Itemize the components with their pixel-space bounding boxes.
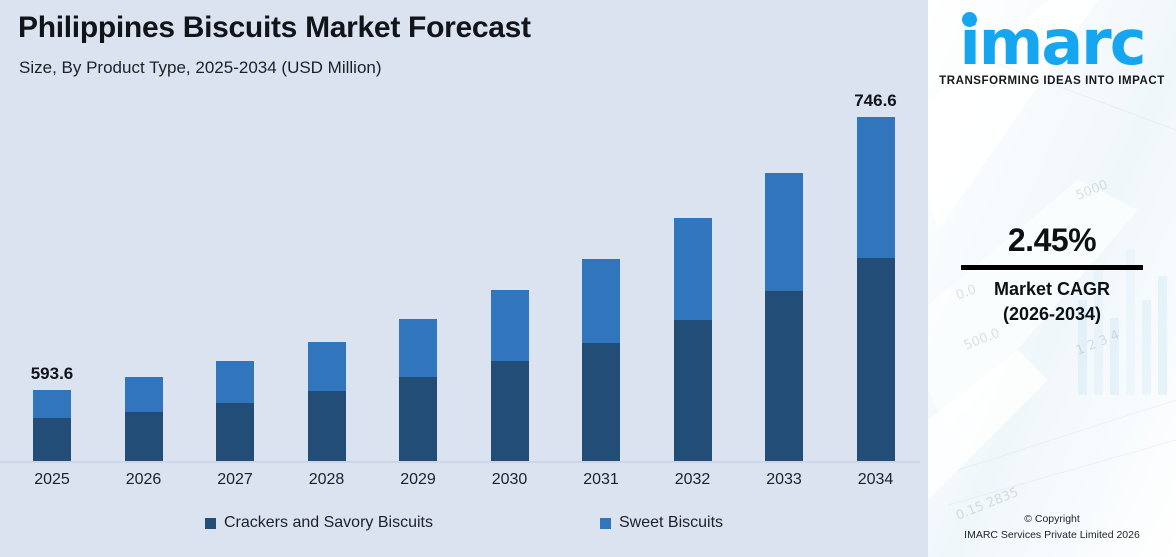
bar-segment-crackers-and-savory-biscuits <box>582 343 620 461</box>
x-tick-2027: 2027 <box>190 471 280 489</box>
bar-segment-crackers-and-savory-biscuits <box>125 412 163 461</box>
bar-2027 <box>216 361 254 461</box>
bar-2030 <box>491 290 529 461</box>
x-axis-line <box>0 461 920 463</box>
branding-panel: 500.0 0.15 2835 0.0 1 2 3 4 5000 imarc T… <box>928 0 1176 557</box>
stacked-bar-plot: 593.6746.6 20252026202720282029203020312… <box>0 0 928 462</box>
x-tick-2029: 2029 <box>373 471 463 489</box>
x-tick-2032: 2032 <box>648 471 738 489</box>
bar-segment-sweet-biscuits <box>399 319 437 377</box>
bar-segment-sweet-biscuits <box>125 377 163 412</box>
imarc-logo: imarc TRANSFORMING IDEAS INTO IMPACT <box>928 14 1176 87</box>
copyright-line2: IMARC Services Private Limited 2026 <box>928 528 1176 544</box>
legend-swatch-icon <box>600 518 611 529</box>
bar-segment-sweet-biscuits <box>765 173 803 291</box>
copyright-notice: © Copyright IMARC Services Private Limit… <box>928 512 1176 544</box>
copyright-line1: © Copyright <box>928 512 1176 528</box>
legend-swatch-icon <box>205 518 216 529</box>
x-tick-2031: 2031 <box>556 471 646 489</box>
bar-segment-sweet-biscuits <box>582 259 620 343</box>
legend-item-crackers-and-savory-biscuits[interactable]: Crackers and Savory Biscuits <box>205 514 433 532</box>
bar-segment-sweet-biscuits <box>491 290 529 361</box>
bar-segment-sweet-biscuits <box>674 218 712 320</box>
data-label-2025: 593.6 <box>7 364 97 384</box>
bar-2029 <box>399 319 437 461</box>
data-label-2034: 746.6 <box>831 91 921 111</box>
bar-segment-crackers-and-savory-biscuits <box>33 418 71 461</box>
bar-2026 <box>125 377 163 461</box>
x-tick-2028: 2028 <box>282 471 372 489</box>
bar-segment-crackers-and-savory-biscuits <box>674 320 712 461</box>
bar-segment-crackers-and-savory-biscuits <box>765 291 803 461</box>
logo-wordmark: imarc <box>959 14 1144 73</box>
bar-segment-sweet-biscuits <box>857 117 895 258</box>
bar-segment-crackers-and-savory-biscuits <box>491 361 529 461</box>
bar-segment-sweet-biscuits <box>308 342 346 391</box>
logo-dot-icon <box>962 12 977 27</box>
bar-2031 <box>582 259 620 461</box>
bar-2032 <box>674 218 712 461</box>
legend-label: Sweet Biscuits <box>619 514 723 532</box>
bar-2025 <box>33 390 71 461</box>
x-tick-2026: 2026 <box>99 471 189 489</box>
bar-2034 <box>857 117 895 461</box>
bar-segment-sweet-biscuits <box>33 390 71 418</box>
bar-segment-crackers-and-savory-biscuits <box>399 377 437 461</box>
x-tick-2033: 2033 <box>739 471 829 489</box>
cagr-value: 2.45% <box>928 222 1176 259</box>
bar-2028 <box>308 342 346 461</box>
bar-segment-crackers-and-savory-biscuits <box>308 391 346 461</box>
bar-segment-crackers-and-savory-biscuits <box>857 258 895 461</box>
x-tick-2030: 2030 <box>465 471 555 489</box>
chart-legend: Crackers and Savory BiscuitsSweet Biscui… <box>0 514 928 546</box>
bar-segment-crackers-and-savory-biscuits <box>216 403 254 461</box>
cagr-callout: 2.45% Market CAGR (2026-2034) <box>928 222 1176 325</box>
cagr-caption-line2: (2026-2034) <box>928 304 1176 325</box>
bar-2033 <box>765 173 803 461</box>
x-tick-2034: 2034 <box>831 471 921 489</box>
cagr-divider <box>961 265 1143 270</box>
legend-item-sweet-biscuits[interactable]: Sweet Biscuits <box>600 514 723 532</box>
legend-label: Crackers and Savory Biscuits <box>224 514 433 532</box>
bar-segment-sweet-biscuits <box>216 361 254 403</box>
cagr-caption-line1: Market CAGR <box>928 279 1176 300</box>
chart-panel: Philippines Biscuits Market Forecast Siz… <box>0 0 928 557</box>
x-tick-2025: 2025 <box>7 471 97 489</box>
